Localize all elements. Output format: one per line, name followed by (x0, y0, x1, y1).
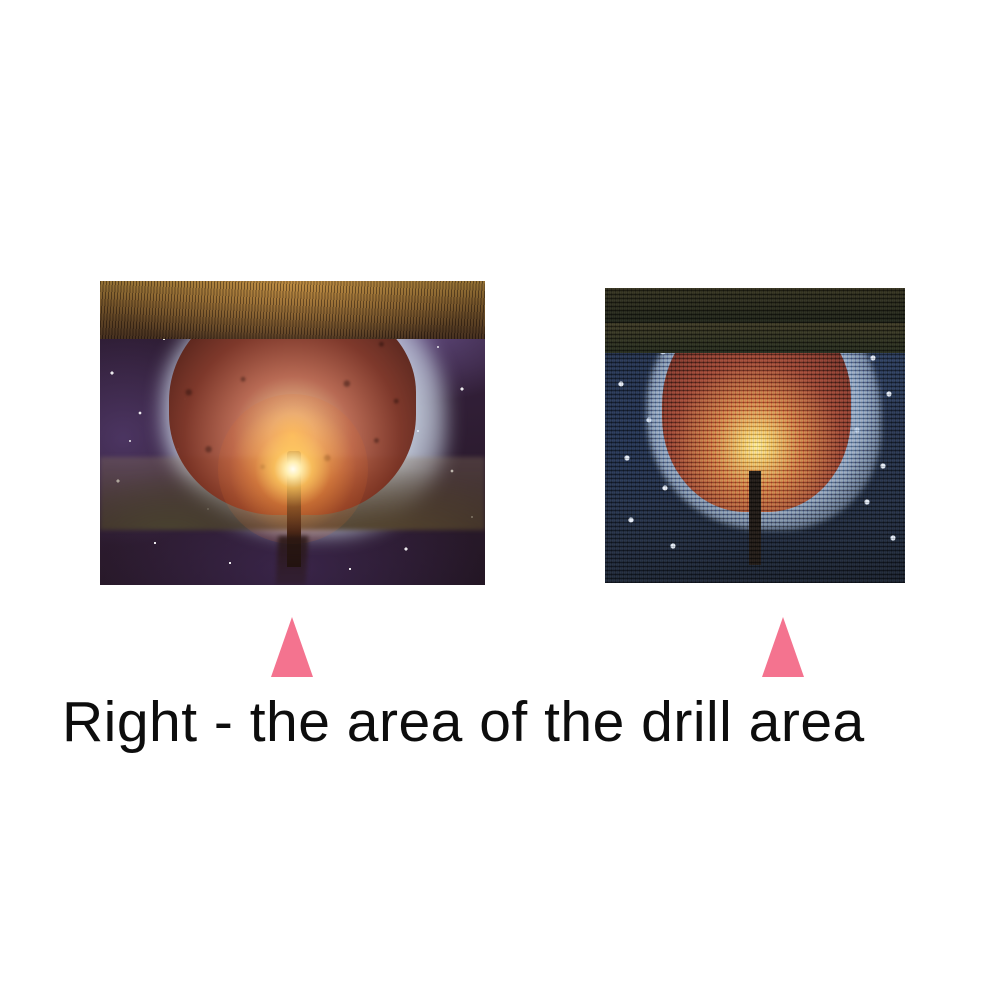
original-photo[interactable] (100, 281, 485, 585)
caption-text: Right - the area of the drill area (62, 688, 992, 756)
arrow-pointing-to-drill-image (762, 617, 804, 677)
original-photo-sunburst (218, 394, 368, 544)
arrow-pointing-to-full-image (271, 617, 313, 677)
drill-preview[interactable] (605, 288, 905, 583)
drill-bead-grid (605, 288, 905, 583)
original-photo-tree-shadow (276, 536, 309, 585)
screenshot-canvas: Right - the area of the drill area (0, 0, 1002, 1002)
original-photo-field-texture (100, 281, 485, 339)
